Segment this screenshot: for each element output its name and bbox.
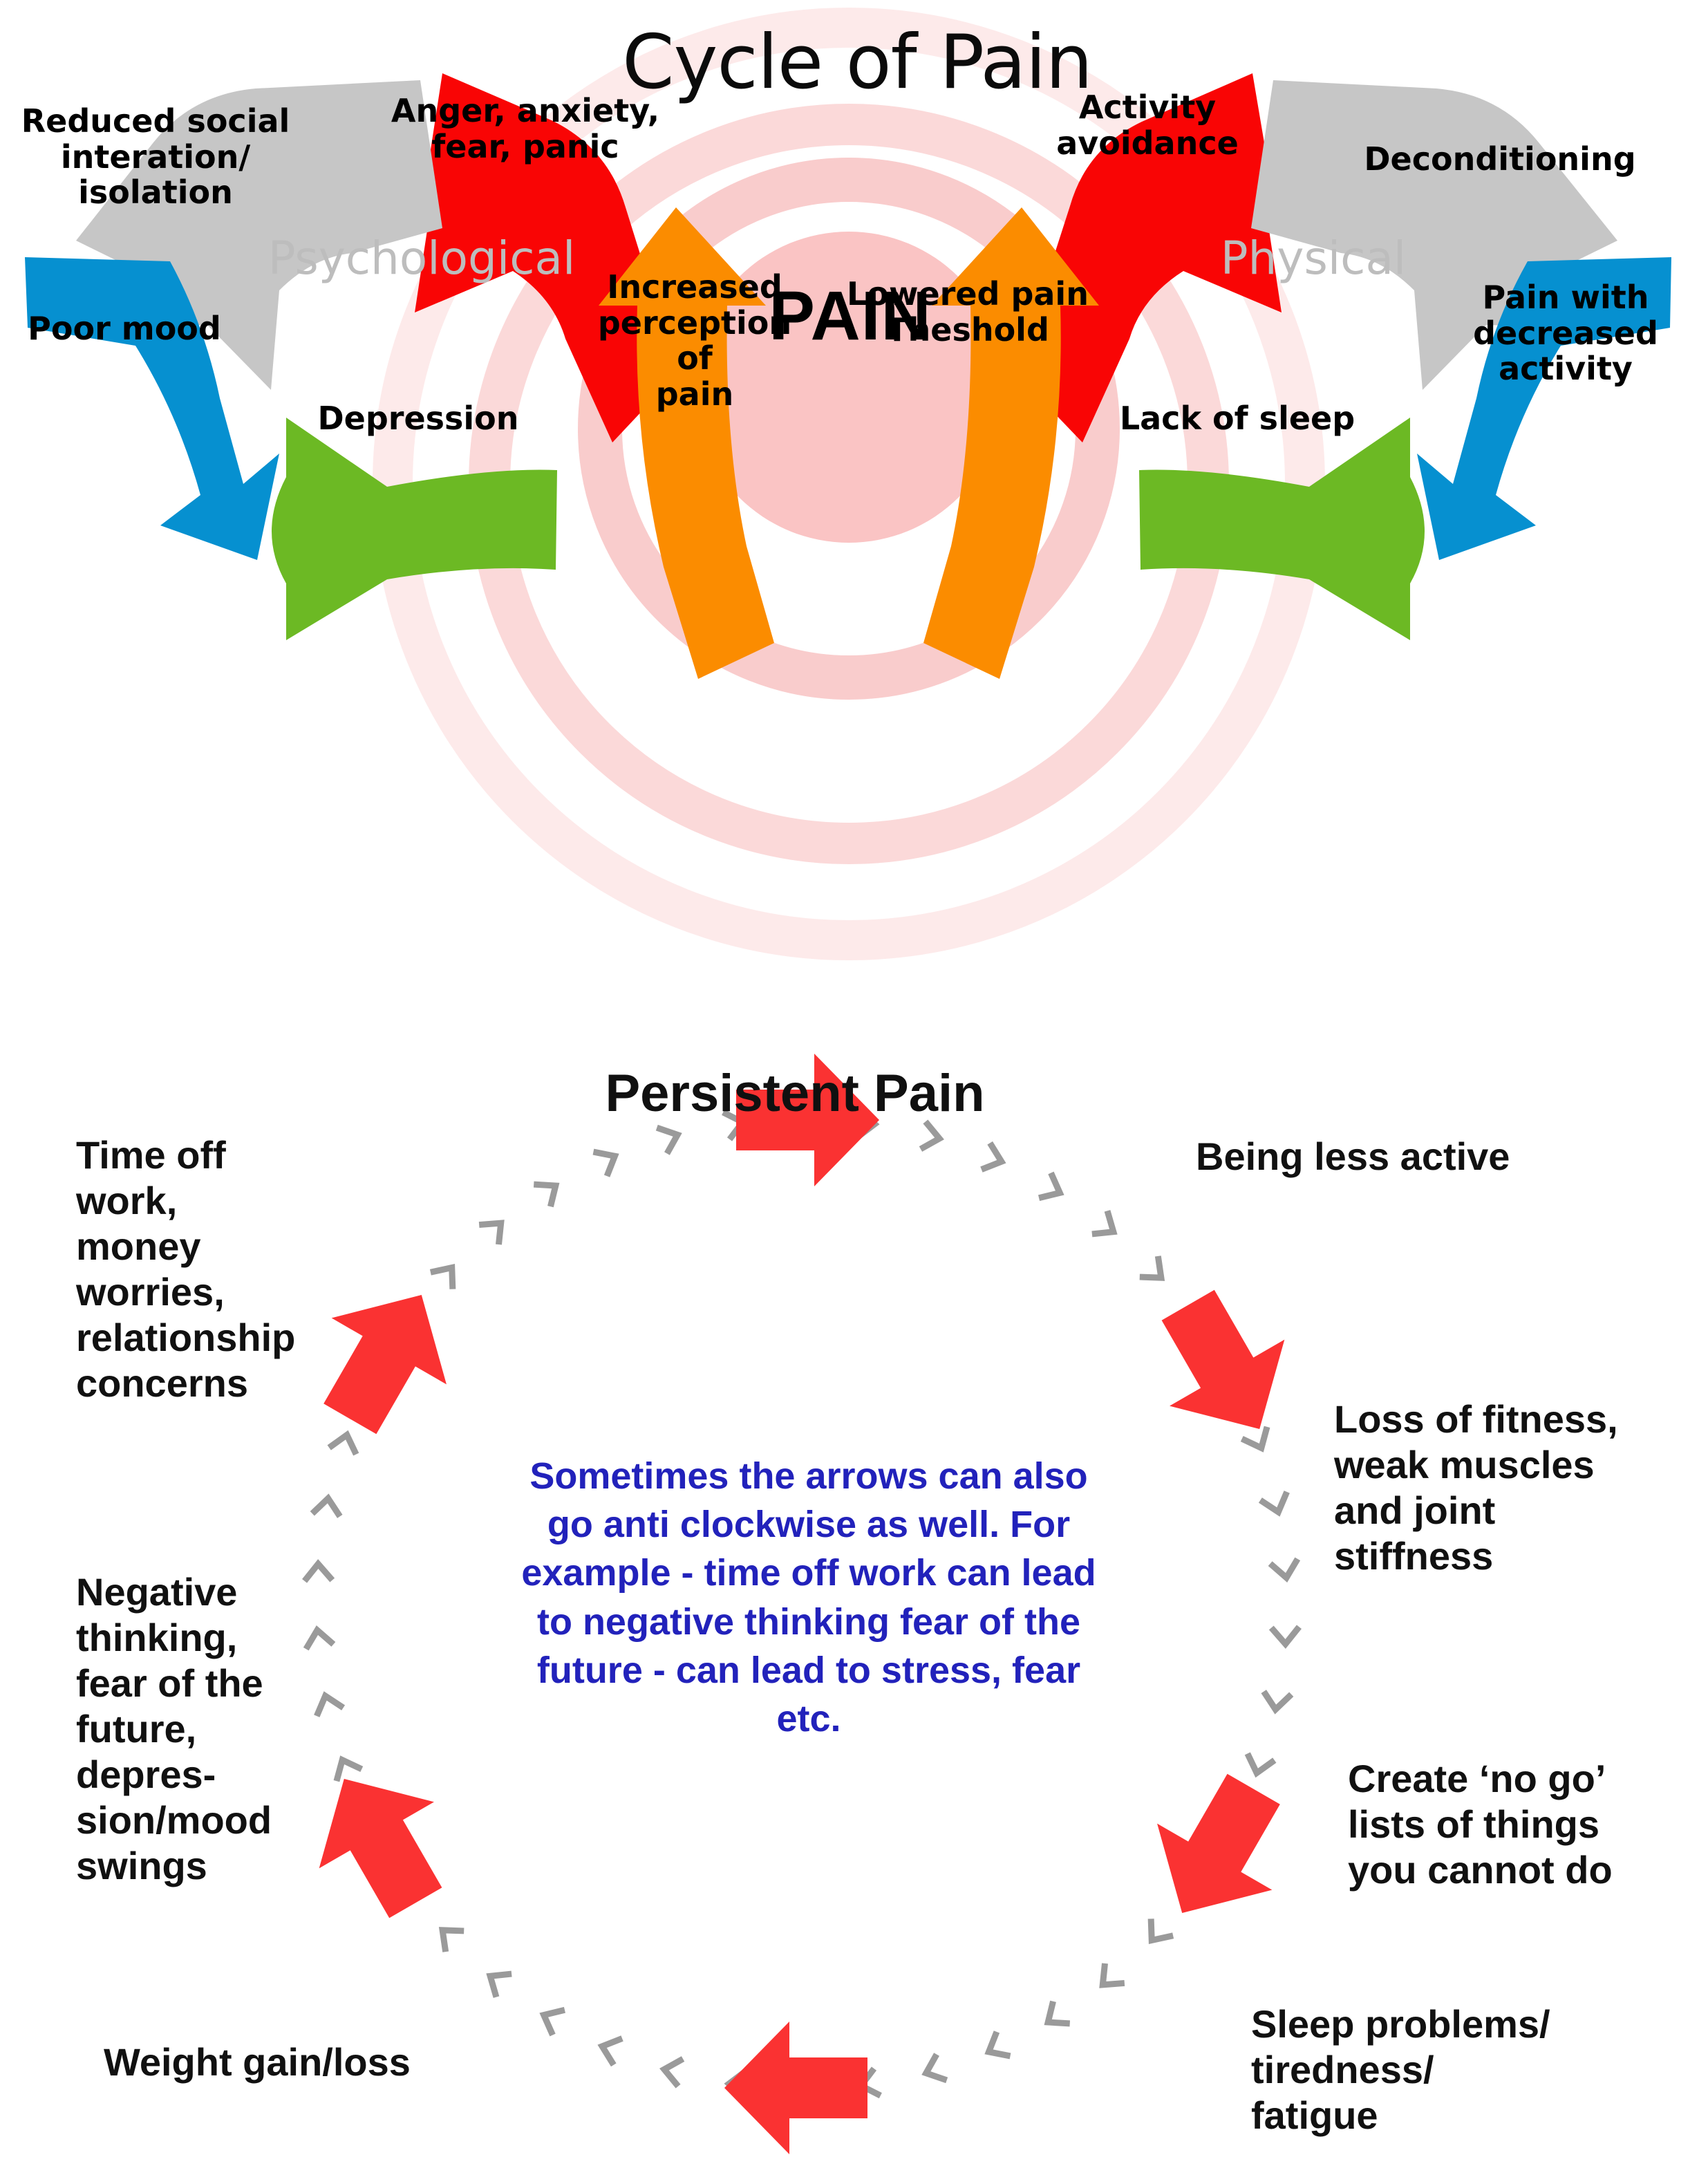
persistent-pain-diagram: Persistent Pain Sometimes the arrows can… [0,1002,1708,2184]
persistent-label-no-go-lists: Create ‘no go’lists of thingsyou cannot … [1348,1756,1673,1893]
ring-dash [1037,1173,1067,1206]
arrow-label-poor-mood: Poor mood [7,311,242,347]
persistent-label-sleep-problems: Sleep problems/tiredness/fatigue [1251,2001,1597,2138]
persistent-label-weight-gain-loss: Weight gain/loss [104,2040,491,2085]
ring-arrow-lower-right [1125,1756,1311,1946]
ring-dash [431,1259,463,1291]
ring-dash [1242,1751,1274,1777]
arrow-label-lack-of-sleep: Lack of sleep [1092,401,1382,437]
arrow-label-depression: Depression [290,401,546,437]
ring-dash [479,1213,510,1246]
arrow-label-increased-perception: Increasedperception ofpain [581,270,809,412]
ring-dash [433,1920,466,1952]
ring-dash [312,1496,343,1520]
ring-dash [1090,1211,1121,1243]
ring-dash [922,2053,947,2085]
ring-dash [534,1175,563,1208]
ring-dash [661,2055,686,2087]
ring-dash [1141,1916,1173,1948]
arrow-label-anger-anxiety: Anger, anxiety,fear, panic [373,93,677,165]
arrow-label-deconditioning: Deconditioning [1341,142,1659,178]
ring-dash [1093,1961,1124,1994]
ring-dash [1138,1256,1170,1288]
arrow-label-reduced-social: Reduced socialinteration/isolation [14,104,297,211]
ring-direction-note: Sometimes the arrows can also go anti cl… [505,1452,1113,1743]
ring-dash [918,1121,943,1153]
arrow-lack-of-sleep [1139,418,1425,640]
arrow-depression [272,418,557,640]
watermark-psychological: Psychological [228,232,615,285]
watermark-physical: Physical [1168,232,1458,285]
persistent-pain-title: Persistent Pain [484,1063,1106,1123]
ring-dash [1261,1689,1291,1712]
arrow-label-activity-avoidance: Activityavoidance [1009,90,1286,161]
ring-dash [1260,1492,1291,1515]
persistent-label-loss-of-fitness: Loss of fitness,weak musclesand jointsti… [1334,1397,1680,1579]
ring-dash [983,2031,1011,2063]
ring-dash [597,2033,625,2065]
ring-dash [593,1145,621,1177]
ring-dash [329,1430,361,1457]
ring-arrow-upper-right [1131,1272,1317,1462]
ring-dash [1270,1559,1299,1579]
ring-dash [1270,1625,1299,1645]
persistent-label-being-less-active: Being less active [1196,1134,1597,1179]
ring-dash [1241,1427,1273,1453]
ring-arrow-bottom [724,2022,867,2154]
arrow-label-pain-decreased-activity: Pain withdecreasedactivity [1452,280,1680,387]
cycle-of-pain-diagram: Cycle of Pain PAIN Psychological Physica… [0,0,1708,961]
persistent-label-time-off: Time offwork,moneyworries,relationshipco… [76,1132,366,1406]
ring-dash [979,1143,1006,1175]
ring-dash [537,2002,567,2035]
ring-dash [657,1123,682,1155]
ring-dash [482,1964,514,1997]
arrow-label-lowered-threshold: Lowered painTheshold [829,277,1106,348]
ring-dash [1040,2000,1070,2033]
persistent-label-negative-thinking: Negativethinking,fear of the future,depr… [76,1569,353,1889]
